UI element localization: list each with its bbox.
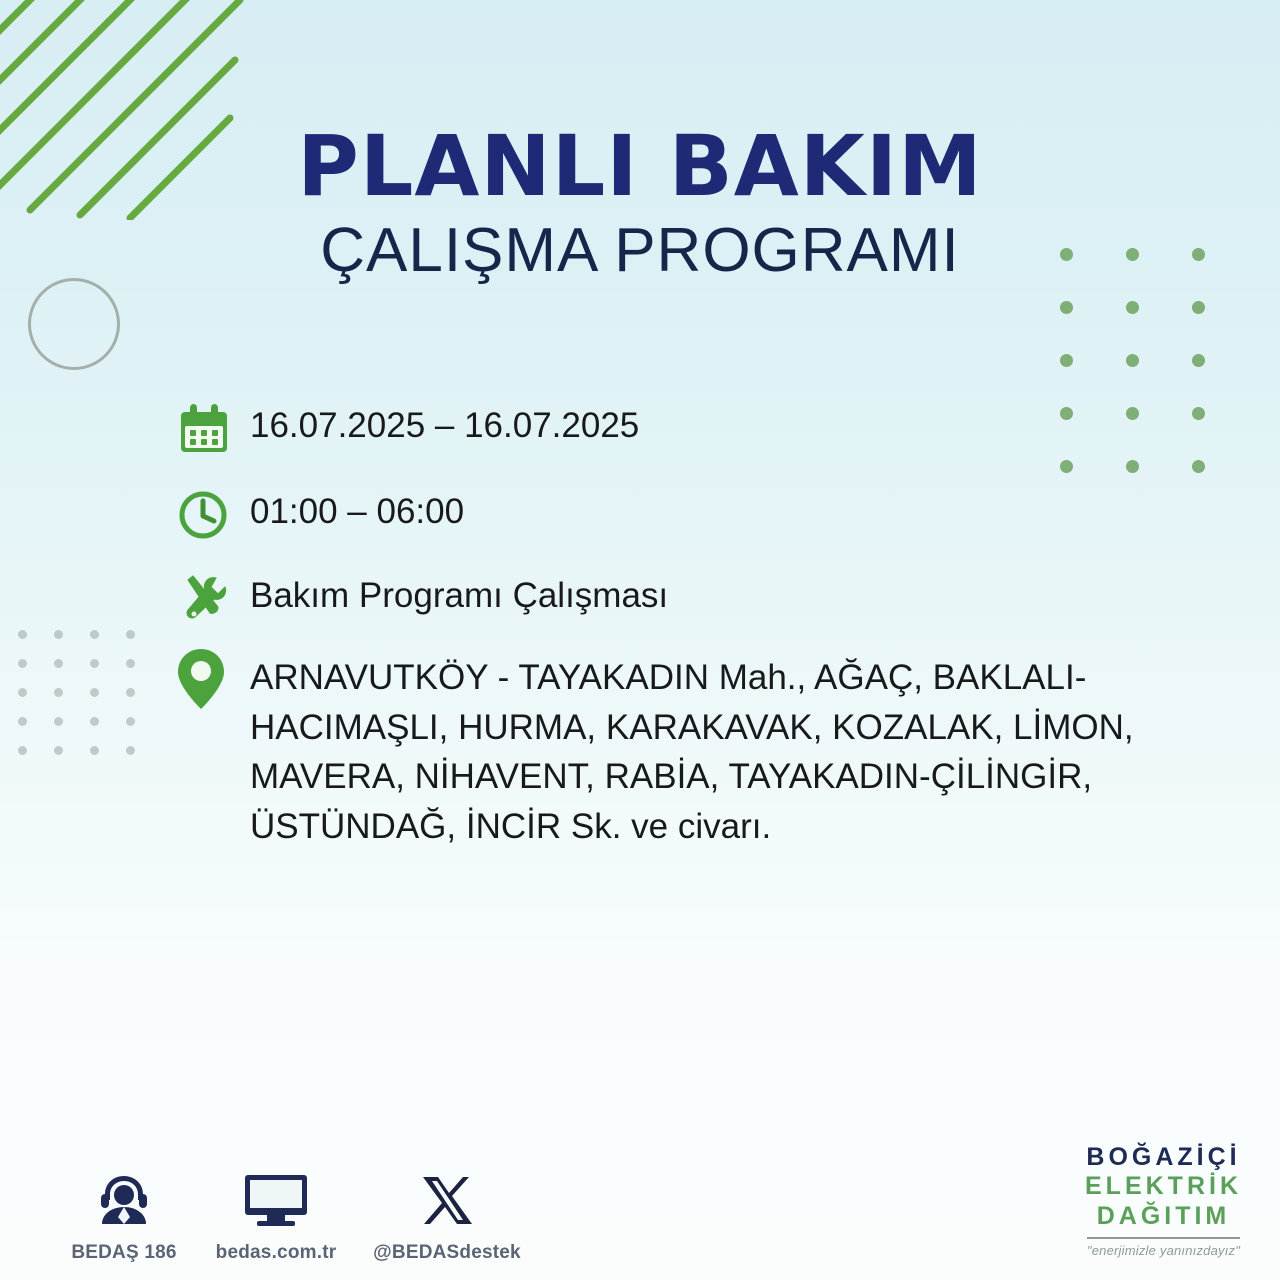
location-pin-icon bbox=[176, 648, 250, 710]
contact-website[interactable]: bedas.com.tr bbox=[200, 1156, 352, 1264]
contact-twitter[interactable]: @BEDASdestek bbox=[352, 1156, 542, 1264]
work-type-text: Bakım Programı Çalışması bbox=[250, 568, 668, 619]
clock-icon bbox=[176, 484, 250, 546]
dot-grid-decoration-left bbox=[18, 630, 162, 775]
poster-footer: BEDAŞ 186 bedas.com.tr bbox=[0, 1110, 1280, 1280]
page-title: PLANLI BAKIM bbox=[0, 124, 1280, 208]
poster-heading: PLANLI BAKIM ÇALIŞMA PROGRAMI bbox=[0, 124, 1280, 282]
brand-tagline: "enerjimizle yanınızdayız" bbox=[1085, 1243, 1242, 1258]
monitor-icon bbox=[200, 1156, 352, 1230]
contact-website-label: bedas.com.tr bbox=[200, 1242, 352, 1264]
contact-links: BEDAŞ 186 bedas.com.tr bbox=[48, 1156, 542, 1264]
page-subtitle: ÇALIŞMA PROGRAMI bbox=[0, 220, 1280, 282]
detail-row-work-type: Bakım Programı Çalışması bbox=[176, 568, 1216, 630]
contact-phone[interactable]: BEDAŞ 186 bbox=[48, 1156, 200, 1264]
contact-phone-label: BEDAŞ 186 bbox=[48, 1242, 200, 1264]
contact-twitter-label: @BEDASdestek bbox=[352, 1242, 542, 1264]
detail-row-date: 16.07.2025 – 16.07.2025 bbox=[176, 398, 1216, 460]
bedas-logo: BOĞAZİÇİ ELEKTRİK DAĞITIM "enerjimizle y… bbox=[1085, 1143, 1242, 1259]
circle-outline-decoration bbox=[28, 278, 120, 370]
support-agent-icon bbox=[48, 1156, 200, 1230]
tools-icon bbox=[176, 568, 250, 630]
x-twitter-icon bbox=[352, 1156, 542, 1230]
maintenance-details: 16.07.2025 – 16.07.2025 01:00 – 06:00 bbox=[176, 398, 1216, 880]
planned-maintenance-poster: PLANLI BAKIM ÇALIŞMA PROGRAMI bbox=[0, 0, 1280, 1280]
brand-line-2: ELEKTRİK bbox=[1085, 1172, 1242, 1202]
brand-line-1: BOĞAZİÇİ bbox=[1085, 1143, 1242, 1173]
location-text: ARNAVUTKÖY - TAYAKADIN Mah., AĞAÇ, BAKLA… bbox=[250, 648, 1185, 852]
brand-divider bbox=[1087, 1237, 1240, 1239]
time-range-text: 01:00 – 06:00 bbox=[250, 484, 464, 535]
calendar-icon bbox=[176, 398, 250, 460]
brand-line-3: DAĞITIM bbox=[1085, 1202, 1242, 1232]
date-range-text: 16.07.2025 – 16.07.2025 bbox=[250, 398, 639, 449]
detail-row-location: ARNAVUTKÖY - TAYAKADIN Mah., AĞAÇ, BAKLA… bbox=[176, 648, 1216, 852]
detail-row-time: 01:00 – 06:00 bbox=[176, 484, 1216, 546]
